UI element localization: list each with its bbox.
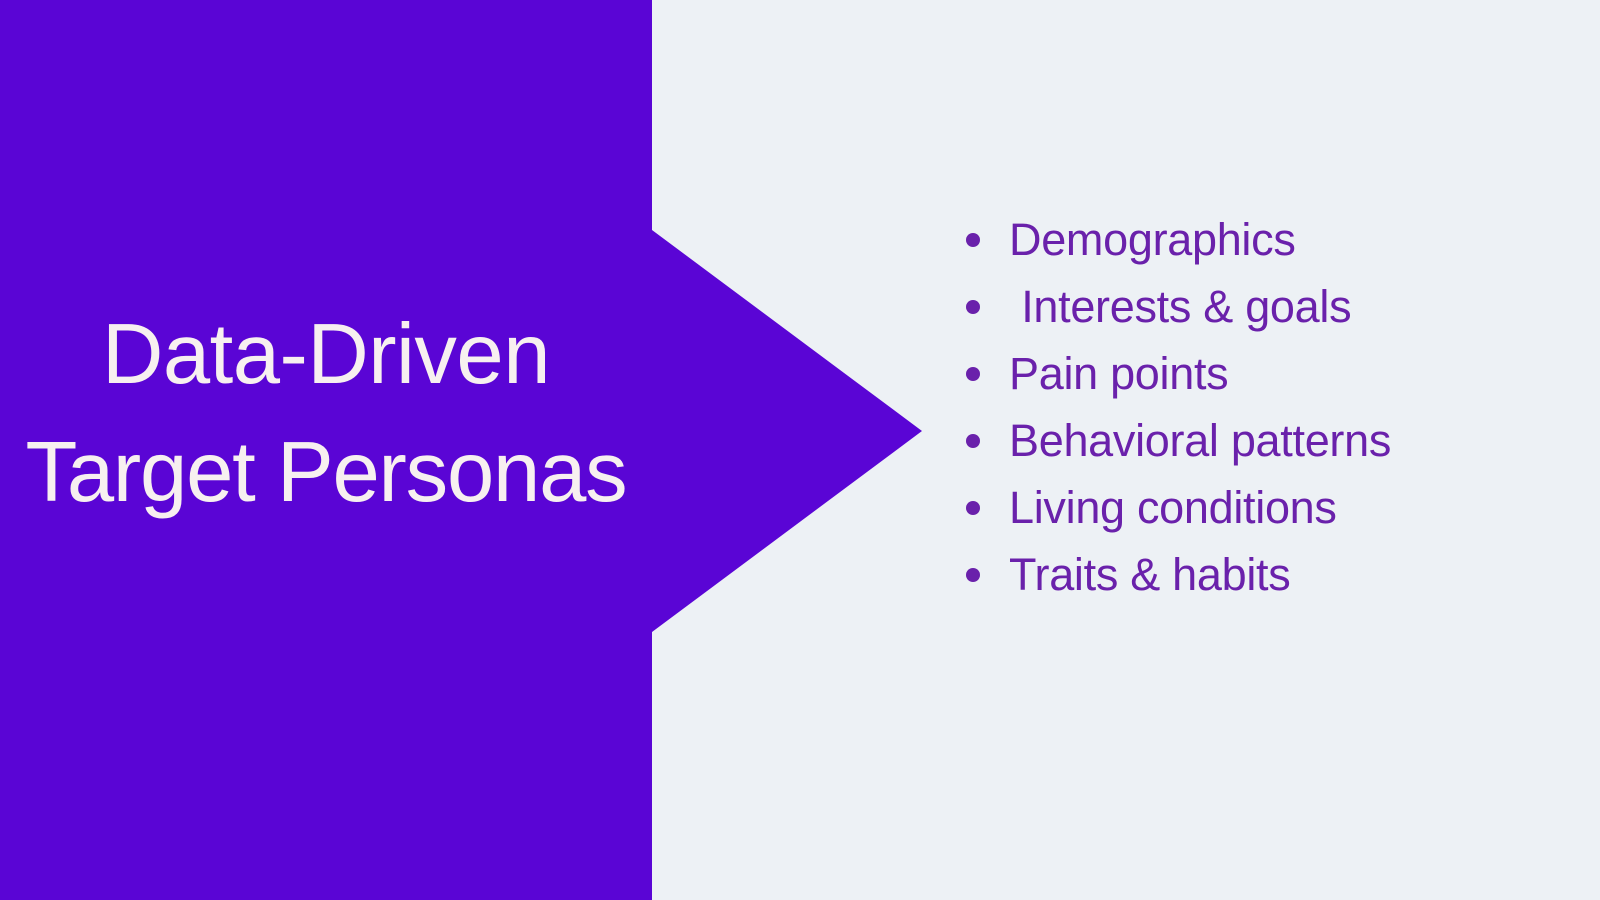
arrow-shape-path xyxy=(0,0,922,900)
list-item: Demographics xyxy=(966,206,1391,273)
arrow-shape-svg xyxy=(0,0,925,900)
list-item-label: Living conditions xyxy=(1009,482,1337,534)
persona-attribute-list: Demographics Interests & goals Pain poin… xyxy=(966,206,1391,608)
bullet-dot-icon xyxy=(966,501,980,515)
list-item: Living conditions xyxy=(966,474,1391,541)
list-item: Traits & habits xyxy=(966,541,1391,608)
list-item: Behavioral patterns xyxy=(966,407,1391,474)
list-item-label: Traits & habits xyxy=(1009,549,1290,601)
bullet-dot-icon xyxy=(966,367,980,381)
list-item: Interests & goals xyxy=(966,273,1391,340)
bullet-dot-icon xyxy=(966,434,980,448)
list-item-label: Pain points xyxy=(1009,348,1228,400)
list-item-label: Demographics xyxy=(1009,214,1296,266)
bullet-dot-icon xyxy=(966,300,980,314)
bullet-dot-icon xyxy=(966,233,980,247)
list-item-label: Behavioral patterns xyxy=(1009,415,1391,467)
list-item-label: Interests & goals xyxy=(1009,281,1351,333)
slide-canvas: Data-Driven Target Personas Demographics… xyxy=(0,0,1600,900)
arrow-banner xyxy=(0,0,925,900)
list-item: Pain points xyxy=(966,340,1391,407)
bullet-dot-icon xyxy=(966,568,980,582)
